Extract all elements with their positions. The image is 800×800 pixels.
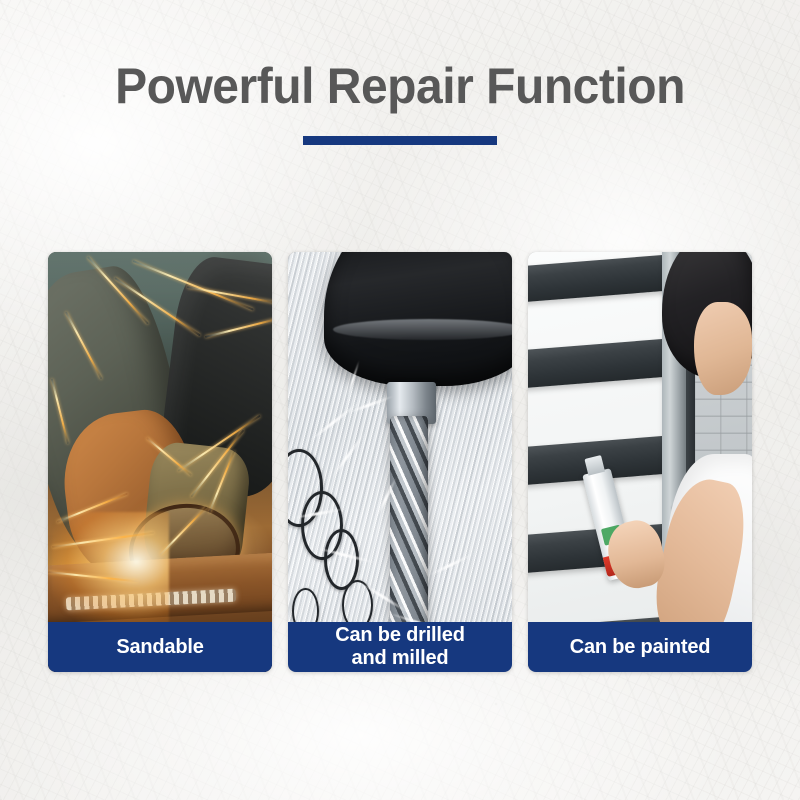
feature-card-caption: Can be drilled and milled <box>288 622 512 672</box>
feature-card-painted[interactable]: Can be painted <box>528 252 752 672</box>
drill-bit-milling-photo <box>288 252 512 672</box>
person-face <box>694 302 752 394</box>
coolant-splash <box>330 431 367 480</box>
spark-burst-glow <box>52 512 168 630</box>
feature-card-caption: Can be painted <box>528 622 752 672</box>
spray-painting-louvers-photo <box>528 252 752 672</box>
feature-card-drilled-milled[interactable]: Can be drilled and milled <box>288 252 512 672</box>
header: Powerful Repair Function <box>0 58 800 145</box>
angle-grinder-sparks-photo <box>48 252 272 672</box>
feature-cards-row: Sandable <box>48 252 752 672</box>
coolant-splash <box>308 400 363 444</box>
infographic-page: Powerful Repair Function <box>0 0 800 800</box>
title-underline-rule <box>303 136 497 145</box>
feature-card-sandable[interactable]: Sandable <box>48 252 272 672</box>
feature-card-caption: Sandable <box>48 622 272 672</box>
coolant-splash <box>429 552 475 576</box>
page-title: Powerful Repair Function <box>16 58 784 114</box>
